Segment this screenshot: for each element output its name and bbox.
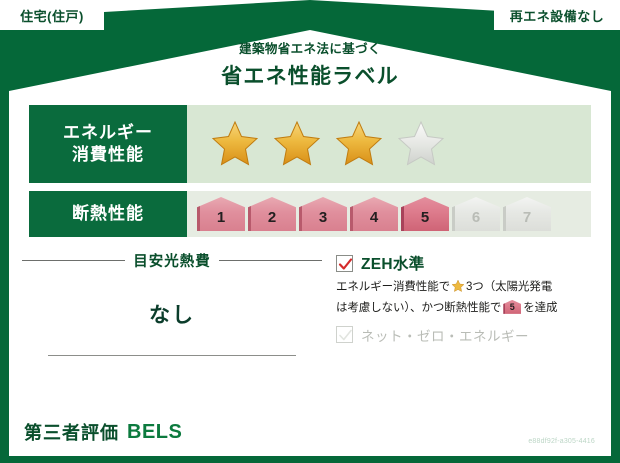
label-title-block: 建築物省エネ法に基づく 省エネ性能ラベル — [0, 38, 620, 90]
bels-logo-plate: 第三者評価 BELS — [15, 417, 191, 447]
energy-star-rating — [187, 105, 591, 183]
insulation-level-number-2: 2 — [268, 209, 276, 231]
energy-performance-row: エネルギー 消費性能 — [28, 104, 592, 184]
utility-cost-panel: 目安光熱費 なし — [22, 250, 322, 356]
evaluation-date-label: 評価日 — [474, 423, 508, 435]
utility-cost-bottom-divider — [48, 355, 296, 356]
zeh-desc-part3: は考慮しない）、かつ断熱性能で — [336, 302, 501, 314]
zeh-checkbox-checked — [336, 255, 353, 272]
insulation-level-5: 5 — [401, 197, 449, 231]
insulation-level-scale: 1 2 3 4 5 — [187, 191, 591, 237]
divider-left — [22, 260, 125, 261]
label-footer: 第三者評価 BELS 橿原市新口町2棟1号棟-84375010-0001 評価日… — [9, 408, 611, 456]
net-zero-energy-label: ネット・ゼロ・エネルギー — [361, 325, 529, 345]
star-icon-filled-1 — [209, 118, 261, 170]
zeh-checkbox-row: ZEH水準 — [336, 252, 592, 274]
energy-label-line1: エネルギー — [63, 122, 153, 144]
net-zero-checkbox-unchecked — [336, 326, 353, 343]
house-icon-inline-number: 5 — [503, 300, 521, 314]
utility-cost-title: 目安光熱費 — [133, 250, 211, 271]
zeh-panel: ZEH水準 エネルギー消費性能で3つ（太陽光発電は考慮しない）、かつ断熱性能で5… — [336, 252, 592, 350]
utility-cost-heading: 目安光熱費 — [22, 250, 322, 271]
energy-performance-label: 住宅(住戸) 再エネ設備なし 建築物省エネ法に基づく 省エネ性能ラベル エネルギ… — [0, 0, 620, 463]
star-icon-inline — [451, 279, 465, 300]
divider-right — [219, 260, 322, 261]
house-icon-inline-5: 5 — [503, 300, 521, 314]
insulation-level-number-7: 7 — [523, 209, 531, 231]
star-icon-filled-3 — [333, 118, 385, 170]
title-subtitle: 建築物省エネ法に基づく — [0, 38, 620, 57]
zeh-title: ZEH水準 — [361, 252, 425, 274]
performance-rows: エネルギー 消費性能 断熱性能 — [28, 104, 592, 244]
insulation-level-1: 1 — [197, 197, 245, 231]
insulation-performance-label: 断熱性能 — [29, 191, 187, 237]
property-address: 橿原市新口町2棟 — [203, 428, 273, 438]
property-unit-id: 1号棟-84375010-0001 — [285, 428, 377, 438]
insulation-level-number-4: 4 — [370, 209, 378, 231]
bels-logo-text: BELS — [127, 421, 182, 444]
insulation-level-2: 2 — [248, 197, 296, 231]
star-icon-empty-4 — [395, 118, 447, 170]
utility-cost-value: なし — [22, 299, 322, 329]
insulation-level-number-1: 1 — [217, 209, 225, 231]
insulation-level-number-6: 6 — [472, 209, 480, 231]
insulation-level-4: 4 — [350, 197, 398, 231]
insulation-level-3: 3 — [299, 197, 347, 231]
property-address-block: 橿原市新口町2棟1号棟-84375010-0001 — [203, 426, 377, 439]
insulation-level-6: 6 — [452, 197, 500, 231]
renewable-energy-tab: 再エネ設備なし — [494, 0, 620, 30]
document-id: e88df92f-a305-4416 — [474, 438, 595, 445]
star-icon-filled-2 — [271, 118, 323, 170]
energy-performance-label: エネルギー 消費性能 — [29, 105, 187, 183]
building-type-tab: 住宅(住戸) — [0, 0, 104, 30]
zeh-description: エネルギー消費性能で3つ（太陽光発電は考慮しない）、かつ断熱性能で5を達成 — [336, 279, 592, 318]
zeh-desc-part2: 3つ（太陽光発電 — [466, 281, 552, 293]
zeh-desc-part4: を達成 — [523, 302, 557, 314]
energy-label-line2: 消費性能 — [72, 144, 144, 166]
net-zero-energy-row: ネット・ゼロ・エネルギー — [336, 325, 592, 345]
insulation-performance-row: 断熱性能 1 2 3 — [28, 190, 592, 238]
insulation-level-number-3: 3 — [319, 209, 327, 231]
evaluation-info-block: 評価日 2025年10月30日 e88df92f-a305-4416 — [474, 420, 595, 445]
page-title: 省エネ性能ラベル — [0, 60, 620, 90]
zeh-desc-part1: エネルギー消費性能で — [336, 281, 450, 293]
third-party-eval-label: 第三者評価 — [24, 419, 119, 445]
insulation-level-number-5: 5 — [421, 209, 429, 231]
insulation-house-list: 1 2 3 4 5 — [197, 197, 551, 231]
evaluation-date-line: 評価日 2025年10月30日 — [474, 420, 595, 436]
insulation-level-7: 7 — [503, 197, 551, 231]
evaluation-date-value: 2025年10月30日 — [511, 423, 595, 435]
